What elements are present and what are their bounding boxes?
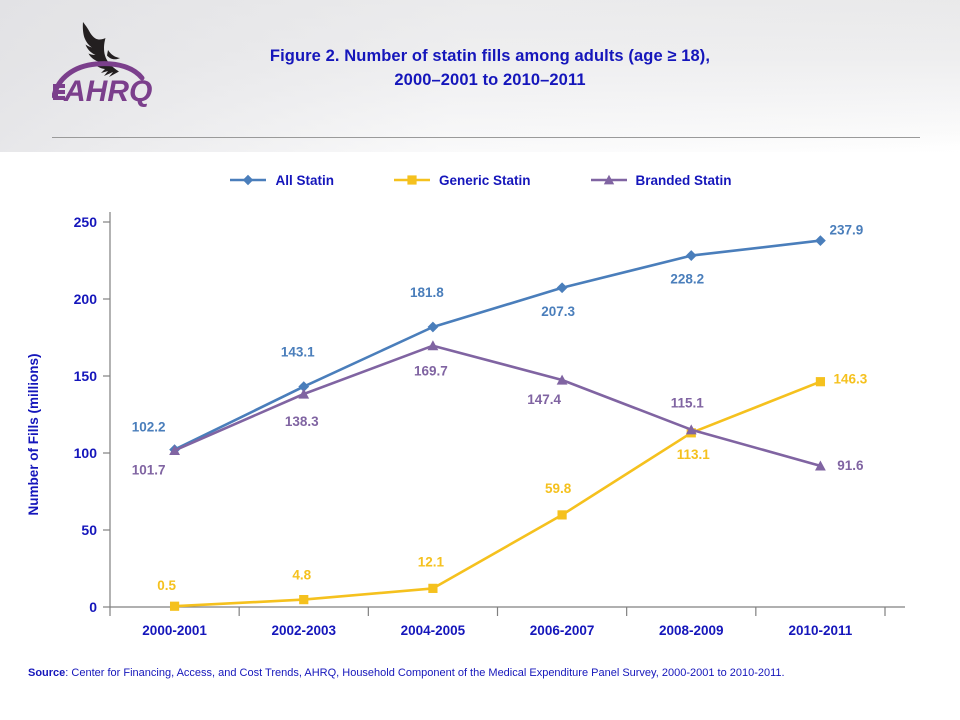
series-line — [175, 346, 821, 466]
data-label: 147.4 — [527, 392, 561, 407]
figure-title-line-1: Figure 2. Number of statin fills among a… — [150, 44, 830, 68]
data-label: 113.1 — [677, 447, 711, 462]
data-label: 146.3 — [834, 372, 868, 387]
data-label: 102.2 — [132, 420, 166, 435]
chart-area: 0501001502002502000-20012002-20032004-20… — [0, 198, 960, 648]
data-label: 143.1 — [281, 345, 315, 360]
legend-item-generic-statin[interactable]: Generic Statin — [392, 172, 531, 188]
series-line — [175, 241, 821, 450]
x-category-label: 2002-2003 — [271, 623, 336, 638]
data-point-marker[interactable] — [557, 282, 568, 293]
data-label: 4.8 — [292, 568, 311, 583]
data-point-marker[interactable] — [428, 340, 439, 350]
legend-marker-triangle-icon — [589, 172, 629, 188]
data-point-marker[interactable] — [428, 322, 439, 333]
data-point-marker[interactable] — [299, 595, 308, 604]
series-line — [175, 382, 821, 607]
source-text: : Center for Financing, Access, and Cost… — [65, 667, 784, 679]
legend-marker-square-icon — [392, 172, 432, 188]
legend-item-branded-statin[interactable]: Branded Statin — [589, 172, 732, 188]
data-label: 115.1 — [671, 396, 705, 411]
x-category-label: 2010-2011 — [789, 623, 853, 638]
legend-item-all-statin[interactable]: All Statin — [228, 172, 334, 188]
source-note: Source: Center for Financing, Access, an… — [28, 666, 938, 681]
x-category-label: 2008-2009 — [659, 623, 724, 638]
data-point-marker[interactable] — [686, 250, 697, 261]
y-tick-label: 100 — [74, 445, 98, 461]
legend-marker-diamond-icon — [228, 172, 268, 188]
figure-title-line-2: 2000–2001 to 2010–2011 — [150, 68, 830, 92]
data-label: 228.2 — [670, 272, 704, 287]
data-point-marker[interactable] — [557, 510, 566, 519]
svg-text:AHRQ: AHRQ — [63, 75, 152, 108]
y-tick-label: 50 — [81, 522, 97, 538]
data-point-marker[interactable] — [815, 235, 826, 246]
y-tick-label: 200 — [74, 291, 98, 307]
series-generic-statin: 0.54.812.159.8113.1146.3 — [157, 372, 868, 611]
data-point-marker[interactable] — [170, 602, 179, 611]
data-point-marker[interactable] — [428, 584, 437, 593]
header-divider — [52, 137, 920, 138]
data-label: 181.8 — [410, 285, 444, 300]
y-tick-label: 150 — [74, 368, 98, 384]
data-label: 91.6 — [837, 458, 864, 473]
data-label: 138.3 — [285, 414, 319, 429]
data-label: 12.1 — [418, 554, 445, 569]
data-label: 0.5 — [157, 578, 176, 593]
data-label: 59.8 — [545, 481, 572, 496]
y-axis-title: Number of Fills (millions) — [26, 353, 41, 515]
figure-page: AHRQ Figure 2. Number of statin fills am… — [0, 0, 960, 720]
chart-legend: All StatinGeneric StatinBranded Statin — [0, 172, 960, 198]
legend-label: Branded Statin — [636, 173, 732, 188]
data-label: 169.7 — [414, 364, 448, 379]
x-category-label: 2006-2007 — [530, 623, 595, 638]
data-label: 237.9 — [830, 223, 864, 238]
data-label: 101.7 — [132, 462, 166, 477]
y-tick-label: 250 — [74, 214, 98, 230]
ahrq-wordmark: AHRQ — [53, 75, 152, 108]
figure-title: Figure 2. Number of statin fills among a… — [150, 44, 830, 92]
line-chart: 0501001502002502000-20012002-20032004-20… — [0, 198, 960, 648]
y-tick-label: 0 — [89, 599, 97, 615]
x-category-label: 2004-2005 — [401, 623, 466, 638]
legend-label: Generic Statin — [439, 173, 531, 188]
x-category-label: 2000-2001 — [142, 623, 207, 638]
chart-legend-items: All StatinGeneric StatinBranded Statin — [0, 172, 960, 188]
source-label: Source — [28, 667, 65, 679]
data-label: 207.3 — [541, 304, 575, 319]
data-point-marker[interactable] — [816, 377, 825, 386]
hhs-eagle-icon — [83, 22, 120, 77]
legend-label: All Statin — [275, 173, 334, 188]
